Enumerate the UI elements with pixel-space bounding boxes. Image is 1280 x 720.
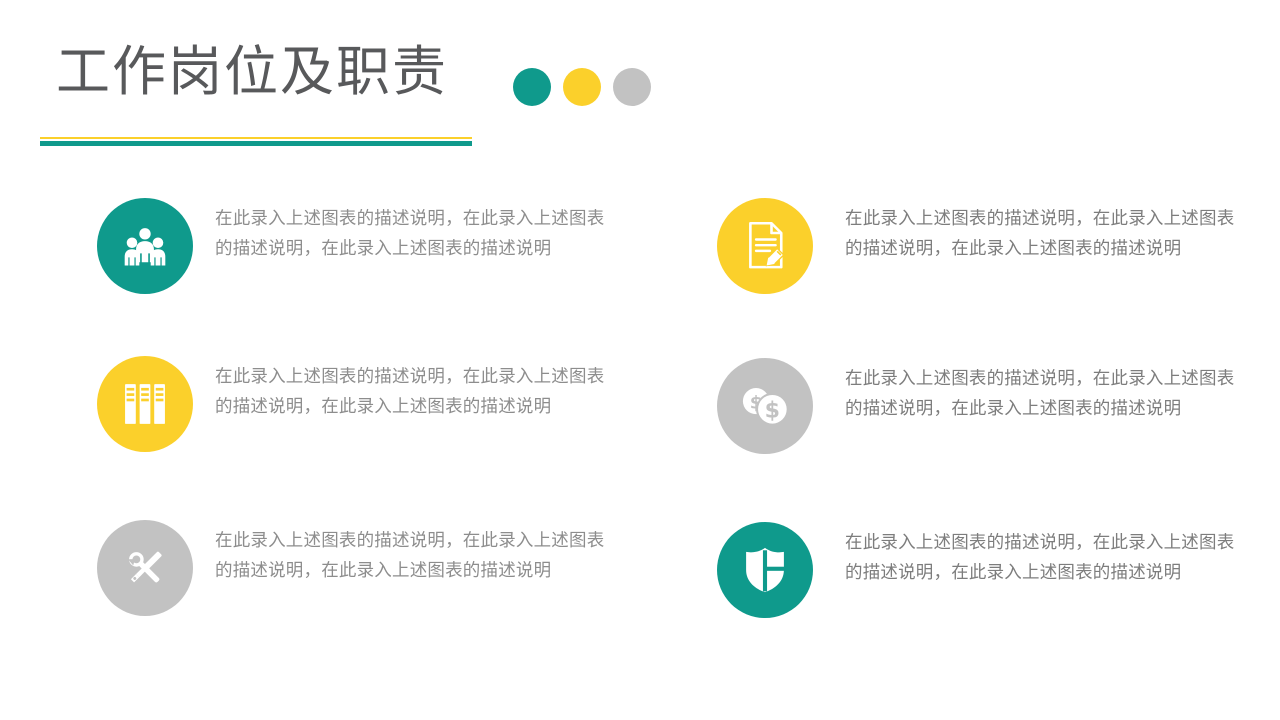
title-underline (40, 137, 472, 146)
icon-circle-document[interactable] (717, 198, 813, 294)
shield-icon (742, 545, 788, 595)
title-underline-thin (40, 137, 472, 139)
document-pencil-icon (740, 220, 790, 272)
feature-column-left: 在此录入上述图表的描述说明，在此录入上述图表的描述说明，在此录入上述图表的描述说… (97, 170, 657, 670)
feature-item[interactable]: 在此录入上述图表的描述说明，在此录入上述图表的描述说明，在此录入上述图表的描述说… (97, 198, 617, 294)
title-dot-yellow (563, 68, 601, 106)
icon-circle-money[interactable]: $ $ (717, 358, 813, 454)
feature-grid: 在此录入上述图表的描述说明，在此录入上述图表的描述说明，在此录入上述图表的描述说… (0, 170, 1280, 720)
title-dot-gray (613, 68, 651, 106)
feature-description: 在此录入上述图表的描述说明，在此录入上述图表的描述说明，在此录入上述图表的描述说… (215, 526, 617, 586)
page-title: 工作岗位及职责 (56, 41, 448, 103)
feature-description: 在此录入上述图表的描述说明，在此录入上述图表的描述说明，在此录入上述图表的描述说… (215, 362, 617, 422)
books-archive-icon (122, 379, 168, 429)
dollar-coins-icon: $ $ (738, 383, 792, 429)
icon-circle-team[interactable] (97, 198, 193, 294)
svg-text:$: $ (765, 397, 780, 423)
slide-header: 工作岗位及职责 (0, 0, 1280, 170)
title-dot-group (513, 68, 651, 106)
feature-item[interactable]: 在此录入上述图表的描述说明，在此录入上述图表的描述说明，在此录入上述图表的描述说… (717, 522, 1237, 618)
feature-description: 在此录入上述图表的描述说明，在此录入上述图表的描述说明，在此录入上述图表的描述说… (845, 204, 1237, 264)
title-dot-teal (513, 68, 551, 106)
icon-circle-shield[interactable] (717, 522, 813, 618)
icon-circle-books[interactable] (97, 356, 193, 452)
feature-item[interactable]: 在此录入上述图表的描述说明，在此录入上述图表的描述说明，在此录入上述图表的描述说… (717, 198, 1237, 294)
icon-circle-tools[interactable] (97, 520, 193, 616)
feature-item[interactable]: $ $ 在此录入上述图表的描述说明，在此录入上述图表的描述说明，在此录入上述图表… (717, 358, 1237, 454)
tools-wrench-screwdriver-icon (119, 542, 171, 594)
feature-item[interactable]: 在此录入上述图表的描述说明，在此录入上述图表的描述说明，在此录入上述图表的描述说… (97, 356, 617, 452)
feature-column-right: 在此录入上述图表的描述说明，在此录入上述图表的描述说明，在此录入上述图表的描述说… (717, 170, 1277, 670)
feature-item[interactable]: 在此录入上述图表的描述说明，在此录入上述图表的描述说明，在此录入上述图表的描述说… (97, 520, 617, 616)
feature-description: 在此录入上述图表的描述说明，在此录入上述图表的描述说明，在此录入上述图表的描述说… (845, 528, 1237, 588)
title-underline-thick (40, 141, 472, 146)
feature-description: 在此录入上述图表的描述说明，在此录入上述图表的描述说明，在此录入上述图表的描述说… (215, 204, 617, 264)
team-people-icon (119, 220, 171, 272)
feature-description: 在此录入上述图表的描述说明，在此录入上述图表的描述说明，在此录入上述图表的描述说… (845, 364, 1237, 424)
